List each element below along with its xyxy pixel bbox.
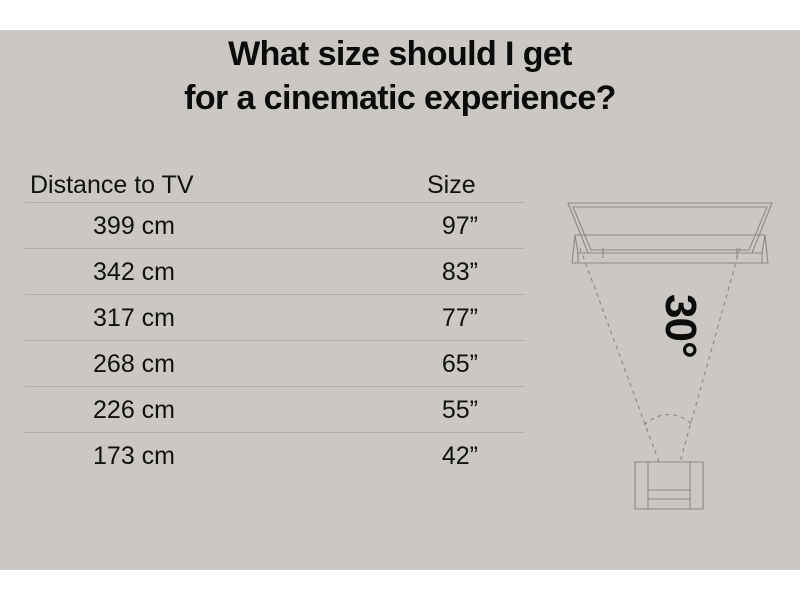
viewing-angle-label: 30° <box>631 294 703 354</box>
cell-size: 77” <box>427 304 525 332</box>
table-row: 399 cm 97” <box>25 202 525 248</box>
sofa-icon <box>635 462 703 509</box>
cell-distance: 226 cm <box>25 396 427 424</box>
page-title: What size should I get for a cinematic e… <box>0 32 800 120</box>
cell-size: 65” <box>427 350 525 378</box>
cell-distance: 342 cm <box>25 258 427 286</box>
page-title-line-1: What size should I get <box>0 32 800 76</box>
television-icon <box>568 203 772 263</box>
cell-size: 55” <box>427 396 525 424</box>
cell-size: 97” <box>427 212 525 240</box>
table-row: 268 cm 65” <box>25 340 525 386</box>
table-row: 317 cm 77” <box>25 294 525 340</box>
cell-distance: 317 cm <box>25 304 427 332</box>
cell-size: 42” <box>427 442 525 470</box>
cell-size: 83” <box>427 258 525 286</box>
table-row: 173 cm 42” <box>25 432 525 478</box>
size-guide-table: Distance to TV Size 399 cm 97” 342 cm 83… <box>25 155 525 478</box>
infographic-canvas: What size should I get for a cinematic e… <box>0 0 800 600</box>
table-row: 342 cm 83” <box>25 248 525 294</box>
cell-distance: 399 cm <box>25 212 427 240</box>
column-header-size: Size <box>427 170 525 200</box>
column-header-distance: Distance to TV <box>25 170 427 200</box>
cell-distance: 268 cm <box>25 350 427 378</box>
table-header-row: Distance to TV Size <box>25 155 525 202</box>
page-title-line-2: for a cinematic experience? <box>0 76 800 120</box>
table-row: 226 cm 55” <box>25 386 525 432</box>
cell-distance: 173 cm <box>25 442 427 470</box>
